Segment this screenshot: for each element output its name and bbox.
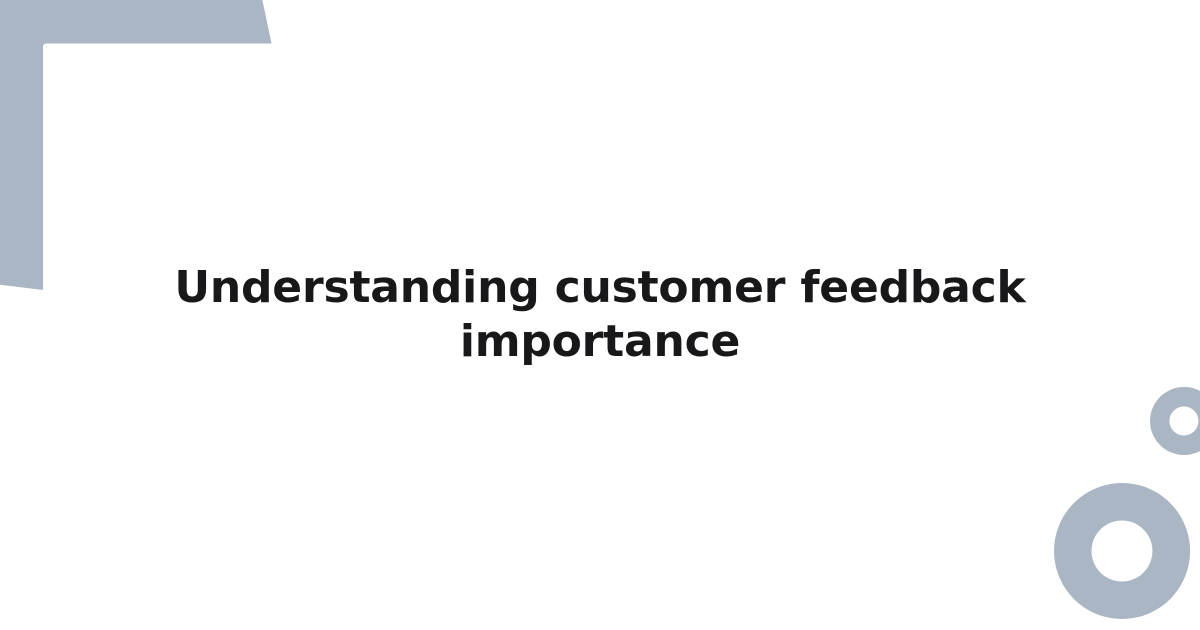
page-title: Understanding customer feedback importan… — [170, 261, 1030, 369]
headline-container: Understanding customer feedback importan… — [0, 0, 1200, 630]
social-card: Understanding customer feedback importan… — [0, 0, 1200, 630]
